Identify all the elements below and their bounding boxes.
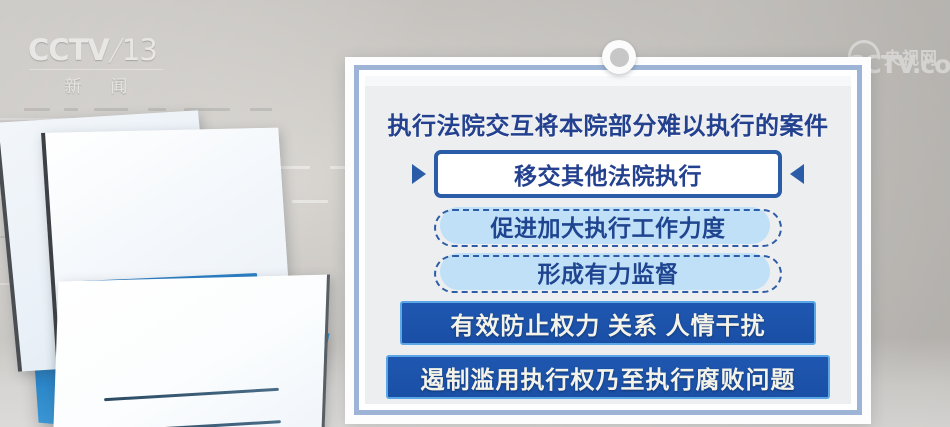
- outcome-pill-label: 形成有力监督: [538, 255, 679, 289]
- cctv13-channel-logo: CCTV/13 新 闻: [28, 34, 168, 96]
- panel-knob-decoration: [602, 40, 636, 74]
- panel-knob-core: [610, 48, 629, 67]
- triangle-left-icon: [790, 164, 804, 184]
- logo-channel-text: CCTV: [28, 33, 109, 67]
- info-panel: 执行法院交互将本院部分难以执行的案件 移交其他法院执行 促进加大执行工作力度: [345, 57, 871, 424]
- logo-line-1: CCTV/13: [28, 34, 168, 67]
- panel-blue-frame: 执行法院交互将本院部分难以执行的案件 移交其他法院执行 促进加大执行工作力度: [354, 65, 862, 415]
- highlight-row: 移交其他法院执行: [412, 150, 804, 198]
- logo-channel-number: 13: [122, 33, 157, 67]
- outcome-pill[interactable]: 形成有力监督: [434, 253, 782, 290]
- solid-callout-label: 有效防止权力 关系 人情干扰: [450, 306, 765, 341]
- logo-rule: [29, 69, 163, 70]
- panel-top-highlight: [365, 76, 851, 86]
- solid-callout-label: 遏制滥用执行权乃至执行腐败问题: [421, 360, 796, 395]
- outcome-pill[interactable]: 促进加大执行工作力度: [434, 207, 782, 244]
- panel-content: 执行法院交互将本院部分难以执行的案件 移交其他法院执行 促进加大执行工作力度: [365, 76, 851, 404]
- solid-callout-box[interactable]: 遏制滥用执行权乃至执行腐败问题: [386, 355, 830, 399]
- highlight-box-label: 移交其他法院执行: [464, 157, 752, 191]
- highlight-box[interactable]: 移交其他法院执行: [434, 150, 782, 198]
- triangle-right-icon: [412, 164, 426, 184]
- page-title: 执行法院交互将本院部分难以执行的案件: [388, 106, 829, 141]
- outcome-pill-label: 促进加大执行工作力度: [491, 209, 726, 243]
- paper-sheet-front: [53, 274, 330, 427]
- documents-illustration: [0, 92, 340, 427]
- solid-callout-box[interactable]: 有效防止权力 关系 人情干扰: [400, 301, 816, 345]
- broadcast-frame: CCTV/13 新 闻 CCTV.com 央视网 执行法院交互将本院部分难以执行…: [0, 0, 950, 427]
